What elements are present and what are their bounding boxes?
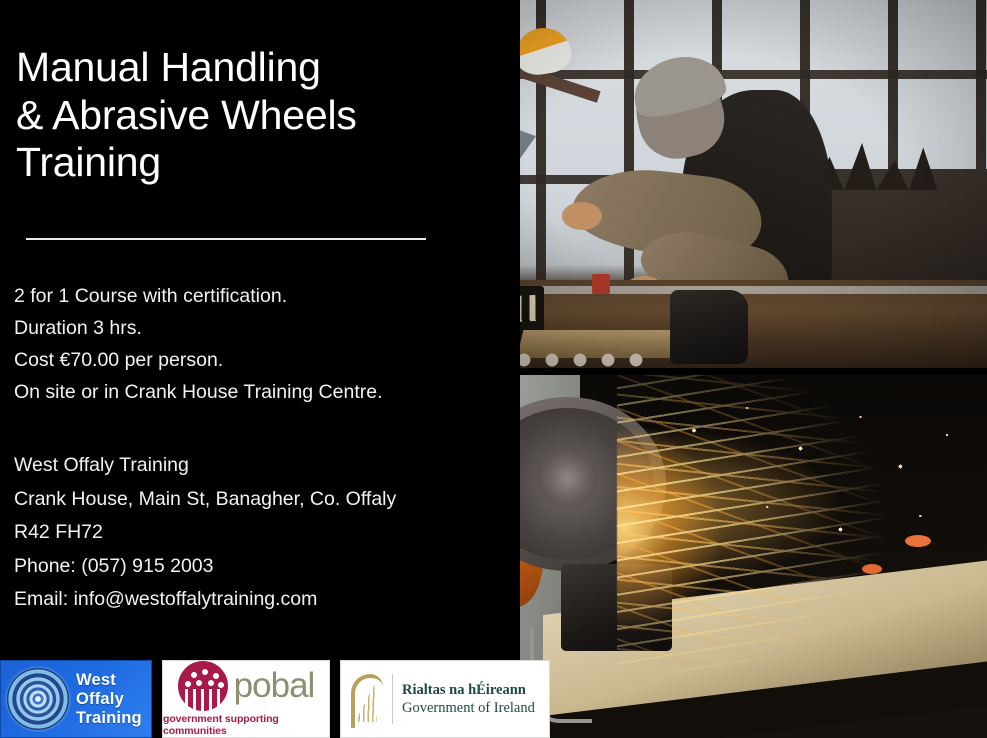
contact-email[interactable]: Email: info@westoffalytraining.com [14, 583, 464, 617]
detail-cost: Cost €70.00 per person. [14, 344, 454, 376]
west-offaly-wordmark: West Offaly Training [76, 671, 142, 728]
wot-line-1: West [76, 671, 142, 690]
contact-org: West Offaly Training [14, 449, 464, 483]
pobal-logo[interactable]: pobal government supporting communities [162, 660, 330, 738]
logo-strip: West Offaly Training pobal government su… [0, 656, 560, 738]
disc-hub [537, 451, 599, 505]
poster-canvas: Manual Handling & Abrasive Wheels Traini… [0, 0, 987, 738]
title-line-3: Training [16, 139, 436, 187]
title-line-2: & Abrasive Wheels [16, 92, 436, 140]
government-of-ireland-logo[interactable]: Rialtas na hÉireann Government of Irelan… [340, 660, 550, 738]
page-title: Manual Handling & Abrasive Wheels Traini… [16, 44, 436, 187]
ember-a [905, 535, 931, 547]
contact-eircode: R42 FH72 [14, 516, 464, 550]
pobal-wordmark: pobal [234, 668, 315, 704]
gov-line-irish: Rialtas na hÉireann [402, 681, 535, 699]
gov-line-english: Government of Ireland [402, 699, 535, 717]
contact-phone[interactable]: Phone: (057) 915 2003 [14, 550, 464, 584]
course-details: 2 for 1 Course with certification. Durat… [14, 280, 454, 408]
ember-b [862, 564, 882, 574]
west-offaly-training-logo[interactable]: West Offaly Training [0, 660, 152, 738]
spark-particles [654, 390, 987, 615]
title-divider [26, 238, 426, 240]
spiral-icon [7, 668, 69, 730]
wot-line-3: Training [76, 709, 142, 728]
logo-divider [392, 674, 393, 724]
pobal-people-icon [178, 661, 228, 711]
wot-line-2: Offaly [76, 690, 142, 709]
pobal-tagline: government supporting communities [163, 713, 329, 737]
detail-location: On site or in Crank House Training Centr… [14, 376, 454, 408]
detail-offer: 2 for 1 Course with certification. [14, 280, 454, 312]
contact-details: West Offaly Training Crank House, Main S… [14, 449, 464, 617]
contact-address: Crank House, Main St, Banagher, Co. Offa… [14, 483, 464, 517]
harp-icon [349, 672, 383, 726]
title-line-1: Manual Handling [16, 44, 436, 92]
detail-duration: Duration 3 hrs. [14, 312, 454, 344]
